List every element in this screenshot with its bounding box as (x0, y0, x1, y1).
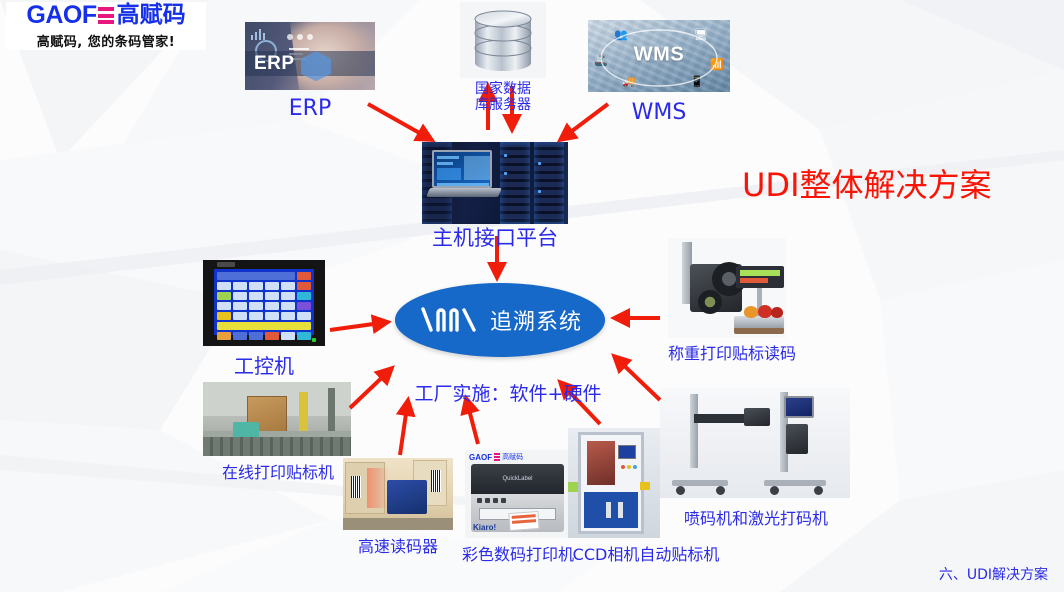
printer-brand-latin: GAOF (469, 453, 492, 462)
logo-bars-icon (98, 7, 114, 24)
label-server-platform: 主机接口平台 (400, 222, 590, 252)
label-high-speed-reader: 高速读码器 (343, 533, 453, 557)
label-database-line2: 库服务器 (460, 94, 546, 114)
pepper-shape (758, 305, 772, 318)
udi-mark-icon (418, 303, 480, 337)
label-erp: ERP (245, 96, 375, 121)
label-inkjet-laser: 喷码机和激光打码机 (662, 505, 850, 529)
server-room-photo (422, 142, 568, 224)
slide-canvas: GAOF 高赋码 高赋码, 您的条码管家! UDI整体解决方案 六、UDI解决方… (0, 0, 1064, 592)
printer-brand-logo: GAOF 高赋码 (469, 452, 523, 462)
factory-implementation-note: 工厂实施：软件+硬件 (398, 379, 618, 406)
footer-section-label: 六、UDI解决方案 (939, 564, 1048, 584)
ccd-labeler-photo (568, 428, 660, 538)
database-cylinder-icon (460, 2, 546, 78)
label-industrial-computer: 工控机 (203, 350, 325, 379)
erp-image-text: ERP (254, 53, 295, 75)
wms-photo: WMS 👥 🖥 🚢 🚚 📱 📶 (588, 20, 730, 92)
color-digital-printer-photo: GAOF 高赋码 QuickLabel Kiaro! (465, 450, 570, 538)
erp-photo: ERP (245, 22, 375, 90)
central-system-label: 追溯系统 (490, 304, 582, 336)
label-ccd-labeler: CCD相机自动贴标机 (556, 541, 736, 565)
logo-slogan: 高赋码, 您的条码管家! (37, 31, 175, 50)
printer-submodel-text: Kiaro! (473, 523, 496, 532)
label-weighing-labeler: 称重打印贴标读码 (662, 340, 802, 364)
company-logo: GAOF 高赋码 高赋码, 您的条码管家! (6, 2, 206, 50)
central-system-node[interactable]: 追溯系统 (395, 283, 605, 357)
logo-chinese-text: 高赋码 (117, 3, 186, 28)
conveyor-labeler-photo (203, 382, 351, 456)
db-cylinder-shape (471, 10, 535, 72)
logo-latin-text: GAOF (26, 3, 96, 28)
label-wms: WMS (588, 100, 730, 125)
pepper-shape (771, 307, 783, 318)
page-title: UDI整体解决方案 (742, 160, 992, 206)
weighing-labeler-photo (668, 238, 786, 338)
logo-wordmark: GAOF 高赋码 (26, 3, 185, 29)
pepper-shape (744, 306, 758, 318)
inkjet-laser-marker-photo (660, 388, 850, 498)
label-online-labeler: 在线打印贴标机 (190, 459, 366, 483)
printer-brand-cn: 高赋码 (502, 452, 523, 462)
wms-link-lines (588, 20, 730, 92)
industrial-panel-photo (203, 260, 325, 346)
hmi-screen (214, 269, 314, 335)
printer-model-text: QuickLabel (502, 476, 532, 482)
